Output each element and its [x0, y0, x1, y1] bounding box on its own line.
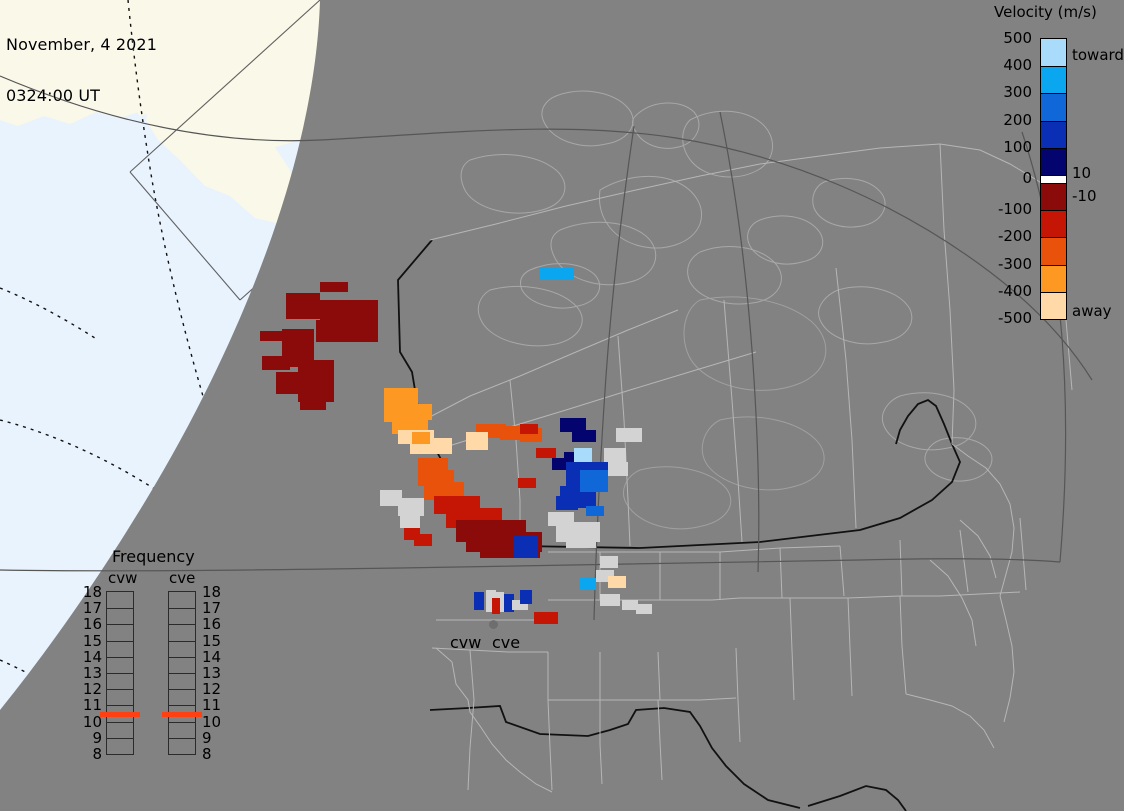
radar-map-view: November, 4 2021 0324:00 UT cvw cve Velo…	[0, 0, 1124, 811]
velocity-cell	[616, 428, 642, 442]
frequency-column-label-cve: cve	[169, 569, 195, 587]
velocity-cell	[534, 612, 558, 624]
frequency-legend-panel: Frequency cvw cve 18171615141312111098 1…	[80, 545, 240, 785]
frequency-gridline	[169, 738, 195, 739]
velocity-cell	[298, 360, 334, 402]
velocity-band--300-to--200	[1041, 237, 1066, 264]
velocity-colorbar-gradient	[1040, 38, 1067, 320]
velocity-band--100-to--10	[1041, 183, 1066, 210]
velocity-away-label: away	[1072, 302, 1112, 320]
velocity-tick--400: -400	[998, 282, 1032, 300]
velocity-colorbar-title: Velocity (m/s)	[994, 3, 1097, 21]
frequency-gridline	[169, 673, 195, 674]
velocity-cell	[572, 430, 596, 442]
velocity-tick-0: 0	[1022, 169, 1032, 187]
frequency-gridline	[107, 608, 133, 609]
velocity-cell	[608, 462, 628, 476]
velocity-band-300-to-400	[1041, 66, 1066, 93]
frequency-gridline	[169, 689, 195, 690]
timestamp-time: 0324:00 UT	[6, 87, 157, 104]
velocity-tick--100: -100	[998, 200, 1032, 218]
frequency-column-label-cvw: cvw	[108, 569, 137, 587]
frequency-highlight-cve	[162, 712, 202, 717]
site-label-cvw: cvw	[450, 633, 481, 652]
velocity-center-low-label: -10	[1072, 187, 1097, 205]
velocity-cell	[536, 448, 556, 458]
velocity-cell	[276, 372, 300, 394]
frequency-gridline	[169, 657, 195, 658]
frequency-legend-title: Frequency	[112, 547, 195, 566]
frequency-gridline	[169, 608, 195, 609]
frequency-gridline	[107, 689, 133, 690]
frequency-gridline	[107, 705, 133, 706]
velocity-cell	[636, 604, 652, 614]
frequency-gridline	[107, 673, 133, 674]
velocity-cell	[586, 506, 604, 516]
velocity-tick-400: 400	[1003, 56, 1032, 74]
velocity-cell	[520, 424, 538, 434]
velocity-band-100-to-200	[1041, 121, 1066, 148]
radar-site-marker	[489, 620, 498, 629]
velocity-colorbar-panel: Velocity (m/s) 5004003002001000-100-200-…	[980, 0, 1124, 340]
velocity-band-200-to-300	[1041, 93, 1066, 120]
velocity-cell	[560, 418, 586, 432]
velocity-cell	[514, 536, 538, 558]
velocity-cell	[520, 590, 532, 604]
velocity-band-10-to-100	[1041, 148, 1066, 175]
velocity-center-high-label: 10	[1072, 164, 1091, 182]
velocity-cell	[398, 404, 432, 420]
velocity-cell	[574, 448, 592, 462]
velocity-cell	[286, 293, 320, 319]
velocity-cell	[320, 282, 348, 292]
velocity-cell	[398, 498, 424, 516]
frequency-gridline	[107, 641, 133, 642]
frequency-gridline	[169, 641, 195, 642]
velocity-cell	[300, 398, 326, 410]
frequency-gridline	[169, 722, 195, 723]
velocity-tick--300: -300	[998, 255, 1032, 273]
frequency-highlight-cvw	[100, 712, 140, 717]
frequency-gridline	[169, 705, 195, 706]
velocity-cell	[474, 592, 484, 610]
velocity-tick-500: 500	[1003, 29, 1032, 47]
velocity-tick-100: 100	[1003, 138, 1032, 156]
timestamp: November, 4 2021 0324:00 UT	[6, 2, 157, 138]
velocity-tick-200: 200	[1003, 111, 1032, 129]
timestamp-date: November, 4 2021	[6, 36, 157, 53]
velocity-tick--500: -500	[998, 309, 1032, 327]
velocity-cell	[608, 576, 626, 588]
velocity-cell	[600, 594, 620, 606]
velocity-cell	[320, 300, 350, 320]
velocity-cell	[566, 534, 596, 548]
frequency-gridline	[169, 624, 195, 625]
velocity-cell	[580, 578, 596, 590]
frequency-tick-left-8: 8	[80, 745, 102, 763]
velocity-cell	[466, 432, 488, 450]
frequency-scale-cve	[168, 591, 196, 755]
velocity-band--400-to--300	[1041, 265, 1066, 292]
site-label-cve: cve	[492, 633, 520, 652]
velocity-cell	[350, 300, 378, 320]
velocity-band-400-to-500	[1041, 39, 1066, 66]
velocity-toward-label: toward	[1072, 46, 1124, 64]
velocity-cell	[262, 356, 290, 370]
velocity-cell	[492, 598, 500, 614]
frequency-gridline	[107, 738, 133, 739]
velocity-tick--200: -200	[998, 227, 1032, 245]
velocity-cell	[316, 320, 378, 342]
velocity-band--500-to--400	[1041, 292, 1066, 319]
velocity-cell	[540, 268, 574, 280]
velocity-band--10-to-10	[1041, 175, 1066, 183]
frequency-scale-cvw	[106, 591, 134, 755]
velocity-cell	[580, 470, 608, 492]
velocity-cell	[600, 556, 618, 568]
velocity-band--200-to--100	[1041, 210, 1066, 237]
velocity-cell	[622, 600, 638, 610]
velocity-cell	[604, 448, 626, 462]
frequency-gridline	[107, 624, 133, 625]
velocity-cell	[414, 534, 432, 546]
velocity-cell	[400, 516, 420, 528]
velocity-cell	[518, 478, 536, 488]
velocity-cell	[412, 432, 430, 444]
velocity-tick-300: 300	[1003, 83, 1032, 101]
velocity-cell	[556, 496, 578, 510]
frequency-gridline	[107, 722, 133, 723]
frequency-tick-right-8: 8	[202, 745, 212, 763]
frequency-gridline	[107, 657, 133, 658]
velocity-cell	[260, 331, 282, 341]
